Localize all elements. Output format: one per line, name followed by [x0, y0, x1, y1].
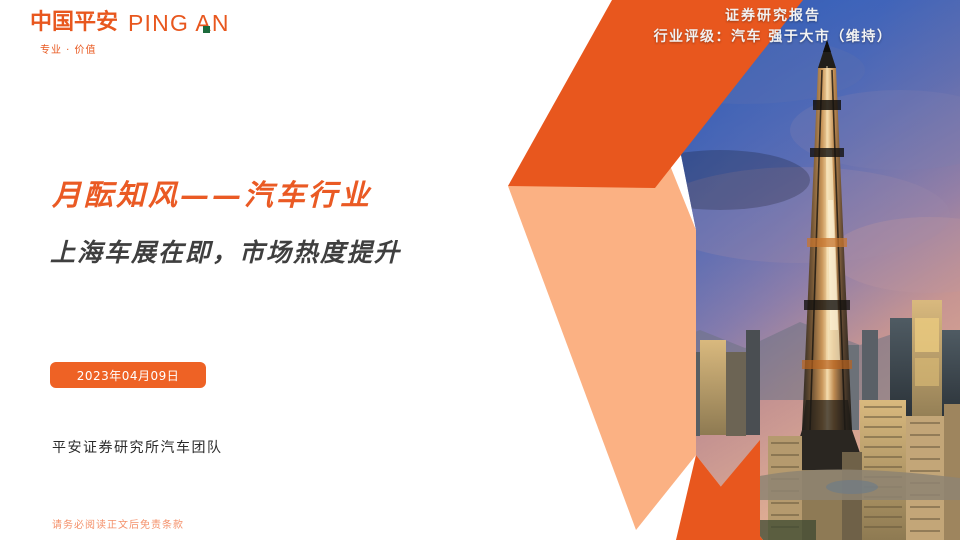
report-cover-slide: 证券研究报告 行业评级：汽车 强于大市（维持） 中国平安 PING AN 专业 … [0, 0, 960, 540]
logo-green-accent-icon [203, 26, 210, 33]
logo-chinese-wordmark: 中国平安 [30, 10, 118, 36]
logo-wordmark-row: 中国平安 PING AN [30, 10, 290, 36]
logo-tagline: 专业 · 价值 [40, 41, 290, 56]
cover-artwork [0, 0, 960, 540]
report-type-label: 证券研究报告 [608, 6, 938, 26]
industry-rating-label: 行业评级：汽车 强于大市（维持） [608, 26, 938, 48]
page-title: 月酝知风——汽车行业 [52, 172, 372, 214]
logo-english-text: PING AN [128, 10, 230, 36]
report-header: 证券研究报告 行业评级：汽车 强于大市（维持） [608, 6, 938, 48]
logo-english-wordmark: PING AN [128, 10, 230, 36]
disclaimer-note: 请务必阅读正文后免责条款 [52, 516, 184, 531]
publish-date-badge: 2023年04月09日 [50, 362, 206, 388]
pingan-logo[interactable]: 中国平安 PING AN 专业 · 价值 [30, 10, 290, 56]
research-team-label: 平安证券研究所汽车团队 [52, 437, 223, 457]
page-subtitle: 上海车展在即，市场热度提升 [50, 233, 401, 269]
